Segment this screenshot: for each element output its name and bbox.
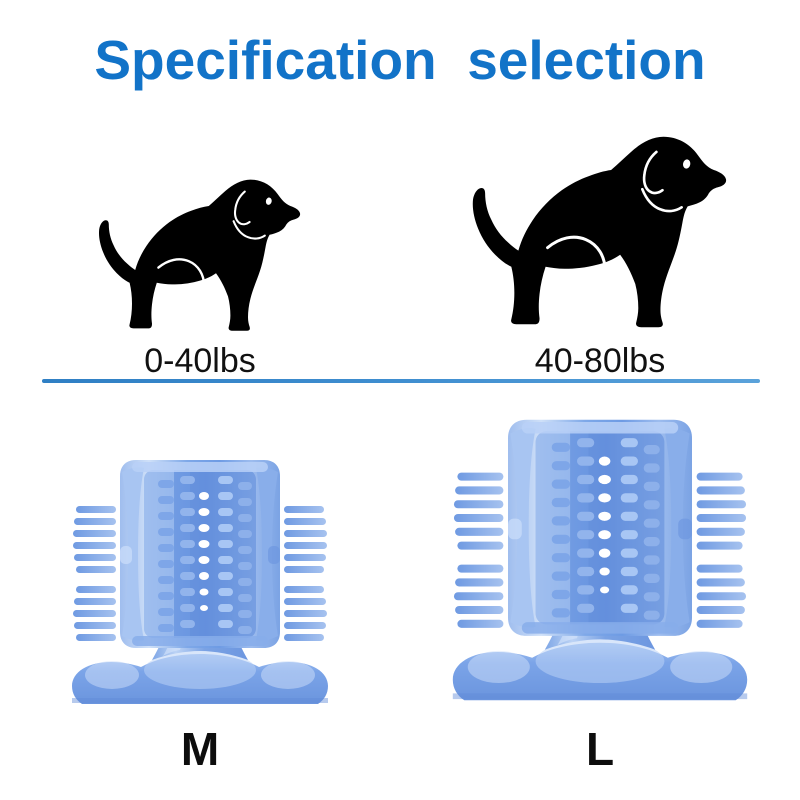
size-option-m[interactable]: 0-40lbs: [0, 0, 400, 800]
brush-side-bristles-right: [697, 473, 746, 628]
sitting-dog-silhouette-icon: [96, 166, 304, 338]
size-option-l[interactable]: 40-80lbs: [400, 0, 800, 800]
brush-body: [120, 460, 280, 648]
dog-toothbrush-product-l: [416, 402, 784, 718]
size-label-l: L: [586, 726, 614, 772]
section-divider: [42, 379, 760, 383]
dog-toothbrush-product-m: [40, 446, 360, 718]
brush-body: [508, 420, 692, 636]
size-label-m: M: [181, 726, 219, 772]
brush-side-bristles-left: [454, 473, 503, 628]
sitting-dog-silhouette-icon: [469, 118, 731, 338]
weight-label-l: 40-80lbs: [535, 344, 665, 378]
brush-base: [453, 639, 747, 700]
brush-base: [72, 651, 328, 704]
weight-label-m: 0-40lbs: [144, 344, 256, 378]
brush-side-bristles-left: [73, 506, 116, 641]
specification-selection-graphic: Specification selection 0-40lbs: [0, 0, 800, 800]
brush-side-bristles-right: [284, 506, 327, 641]
